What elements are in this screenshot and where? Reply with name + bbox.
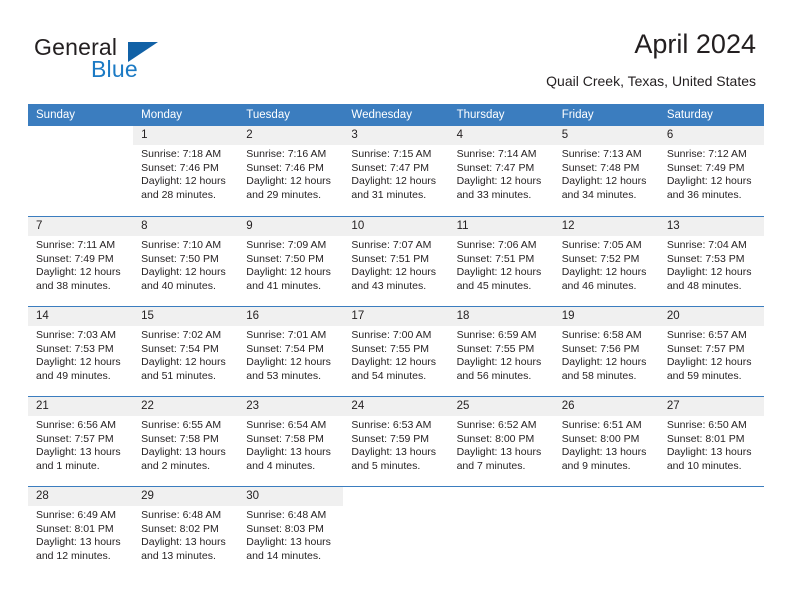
day-number: 11: [449, 217, 554, 236]
calendar-body: 1Sunrise: 7:18 AMSunset: 7:46 PMDaylight…: [28, 126, 764, 576]
day-number: 18: [449, 307, 554, 326]
sunset-time: Sunset: 7:54 PM: [246, 343, 339, 357]
daylight-duration-line2: and 36 minutes.: [667, 189, 760, 203]
calendar-day-cell[interactable]: 23Sunrise: 6:54 AMSunset: 7:58 PMDayligh…: [238, 396, 343, 486]
daylight-duration-line2: and 7 minutes.: [457, 460, 550, 474]
day-sun-info: Sunrise: 7:14 AMSunset: 7:47 PMDaylight:…: [449, 145, 554, 202]
calendar-empty-cell: [28, 126, 133, 216]
day-sun-info: Sunrise: 7:02 AMSunset: 7:54 PMDaylight:…: [133, 326, 238, 383]
weekday-header-wednesday: Wednesday: [343, 104, 448, 126]
daylight-duration-line2: and 31 minutes.: [351, 189, 444, 203]
daylight-duration-line1: Daylight: 13 hours: [141, 446, 234, 460]
day-number: 3: [343, 126, 448, 145]
day-number: 16: [238, 307, 343, 326]
calendar-day-cell[interactable]: 25Sunrise: 6:52 AMSunset: 8:00 PMDayligh…: [449, 396, 554, 486]
sunrise-time: Sunrise: 7:05 AM: [562, 239, 655, 253]
calendar-day-cell[interactable]: 20Sunrise: 6:57 AMSunset: 7:57 PMDayligh…: [659, 306, 764, 396]
day-number: [343, 487, 448, 506]
daylight-duration-line2: and 51 minutes.: [141, 370, 234, 384]
sunrise-time: Sunrise: 7:04 AM: [667, 239, 760, 253]
general-blue-logo[interactable]: General Blue: [34, 34, 214, 90]
day-number: 30: [238, 487, 343, 506]
sunset-time: Sunset: 7:46 PM: [141, 162, 234, 176]
day-sun-info: Sunrise: 7:09 AMSunset: 7:50 PMDaylight:…: [238, 236, 343, 293]
weekday-header-sunday: Sunday: [28, 104, 133, 126]
daylight-duration-line2: and 14 minutes.: [246, 550, 339, 564]
calendar-week-row: 1Sunrise: 7:18 AMSunset: 7:46 PMDaylight…: [28, 126, 764, 216]
calendar-day-cell[interactable]: 11Sunrise: 7:06 AMSunset: 7:51 PMDayligh…: [449, 216, 554, 306]
day-number: 25: [449, 397, 554, 416]
day-sun-info: Sunrise: 7:00 AMSunset: 7:55 PMDaylight:…: [343, 326, 448, 383]
sunrise-time: Sunrise: 7:18 AM: [141, 148, 234, 162]
day-number: 10: [343, 217, 448, 236]
daylight-duration-line2: and 38 minutes.: [36, 280, 129, 294]
day-sun-info: Sunrise: 7:11 AMSunset: 7:49 PMDaylight:…: [28, 236, 133, 293]
sunrise-time: Sunrise: 6:51 AM: [562, 419, 655, 433]
calendar-day-cell[interactable]: 16Sunrise: 7:01 AMSunset: 7:54 PMDayligh…: [238, 306, 343, 396]
calendar-empty-cell: [449, 486, 554, 576]
daylight-duration-line2: and 59 minutes.: [667, 370, 760, 384]
daylight-duration-line2: and 46 minutes.: [562, 280, 655, 294]
sunset-time: Sunset: 7:55 PM: [351, 343, 444, 357]
calendar-day-cell[interactable]: 6Sunrise: 7:12 AMSunset: 7:49 PMDaylight…: [659, 126, 764, 216]
title-block: April 2024 Quail Creek, Texas, United St…: [546, 28, 756, 90]
sunrise-time: Sunrise: 6:49 AM: [36, 509, 129, 523]
sunrise-time: Sunrise: 6:52 AM: [457, 419, 550, 433]
sunrise-time: Sunrise: 7:14 AM: [457, 148, 550, 162]
sunrise-time: Sunrise: 6:55 AM: [141, 419, 234, 433]
calendar-empty-cell: [554, 486, 659, 576]
sunset-time: Sunset: 8:00 PM: [457, 433, 550, 447]
sunset-time: Sunset: 7:54 PM: [141, 343, 234, 357]
sunrise-time: Sunrise: 6:59 AM: [457, 329, 550, 343]
day-sun-info: Sunrise: 6:56 AMSunset: 7:57 PMDaylight:…: [28, 416, 133, 473]
sunset-time: Sunset: 7:51 PM: [351, 253, 444, 267]
day-number: 13: [659, 217, 764, 236]
daylight-duration-line1: Daylight: 12 hours: [562, 266, 655, 280]
calendar-day-cell[interactable]: 4Sunrise: 7:14 AMSunset: 7:47 PMDaylight…: [449, 126, 554, 216]
day-number: 6: [659, 126, 764, 145]
calendar-day-cell[interactable]: 15Sunrise: 7:02 AMSunset: 7:54 PMDayligh…: [133, 306, 238, 396]
daylight-duration-line2: and 45 minutes.: [457, 280, 550, 294]
day-number: 23: [238, 397, 343, 416]
weekday-header-saturday: Saturday: [659, 104, 764, 126]
calendar-day-cell[interactable]: 12Sunrise: 7:05 AMSunset: 7:52 PMDayligh…: [554, 216, 659, 306]
day-number: 21: [28, 397, 133, 416]
daylight-duration-line1: Daylight: 12 hours: [667, 356, 760, 370]
sunrise-time: Sunrise: 6:50 AM: [667, 419, 760, 433]
sunset-time: Sunset: 7:48 PM: [562, 162, 655, 176]
page-subtitle: Quail Creek, Texas, United States: [546, 72, 756, 90]
day-number: [449, 487, 554, 506]
sunset-time: Sunset: 8:03 PM: [246, 523, 339, 537]
calendar-day-cell[interactable]: 18Sunrise: 6:59 AMSunset: 7:55 PMDayligh…: [449, 306, 554, 396]
sunrise-time: Sunrise: 7:02 AM: [141, 329, 234, 343]
sunset-time: Sunset: 7:50 PM: [246, 253, 339, 267]
day-sun-info: Sunrise: 7:03 AMSunset: 7:53 PMDaylight:…: [28, 326, 133, 383]
sunrise-time: Sunrise: 7:00 AM: [351, 329, 444, 343]
sunset-time: Sunset: 8:02 PM: [141, 523, 234, 537]
daylight-duration-line1: Daylight: 12 hours: [562, 175, 655, 189]
calendar-day-cell[interactable]: 2Sunrise: 7:16 AMSunset: 7:46 PMDaylight…: [238, 126, 343, 216]
day-number: 28: [28, 487, 133, 506]
sunrise-time: Sunrise: 6:58 AM: [562, 329, 655, 343]
day-number: 26: [554, 397, 659, 416]
sunrise-time: Sunrise: 7:01 AM: [246, 329, 339, 343]
calendar-day-cell[interactable]: 17Sunrise: 7:00 AMSunset: 7:55 PMDayligh…: [343, 306, 448, 396]
sunset-time: Sunset: 7:53 PM: [36, 343, 129, 357]
daylight-duration-line1: Daylight: 13 hours: [457, 446, 550, 460]
day-number: 29: [133, 487, 238, 506]
daylight-duration-line2: and 41 minutes.: [246, 280, 339, 294]
daylight-duration-line1: Daylight: 12 hours: [667, 175, 760, 189]
sunset-time: Sunset: 7:55 PM: [457, 343, 550, 357]
daylight-duration-line2: and 43 minutes.: [351, 280, 444, 294]
calendar-day-cell[interactable]: 26Sunrise: 6:51 AMSunset: 8:00 PMDayligh…: [554, 396, 659, 486]
calendar-day-cell[interactable]: 1Sunrise: 7:18 AMSunset: 7:46 PMDaylight…: [133, 126, 238, 216]
calendar-empty-cell: [659, 486, 764, 576]
daylight-duration-line1: Daylight: 12 hours: [246, 356, 339, 370]
calendar-day-cell[interactable]: 14Sunrise: 7:03 AMSunset: 7:53 PMDayligh…: [28, 306, 133, 396]
sunrise-time: Sunrise: 7:13 AM: [562, 148, 655, 162]
calendar-week-row: 28Sunrise: 6:49 AMSunset: 8:01 PMDayligh…: [28, 486, 764, 576]
daylight-duration-line2: and 12 minutes.: [36, 550, 129, 564]
sunset-time: Sunset: 8:01 PM: [667, 433, 760, 447]
calendar-day-cell[interactable]: 29Sunrise: 6:48 AMSunset: 8:02 PMDayligh…: [133, 486, 238, 576]
daylight-duration-line2: and 29 minutes.: [246, 189, 339, 203]
daylight-duration-line1: Daylight: 13 hours: [246, 446, 339, 460]
calendar-day-cell[interactable]: 28Sunrise: 6:49 AMSunset: 8:01 PMDayligh…: [28, 486, 133, 576]
daylight-duration-line1: Daylight: 13 hours: [351, 446, 444, 460]
day-sun-info: Sunrise: 7:10 AMSunset: 7:50 PMDaylight:…: [133, 236, 238, 293]
day-number: [554, 487, 659, 506]
day-sun-info: Sunrise: 7:07 AMSunset: 7:51 PMDaylight:…: [343, 236, 448, 293]
day-sun-info: Sunrise: 6:48 AMSunset: 8:03 PMDaylight:…: [238, 506, 343, 563]
sunset-time: Sunset: 7:49 PM: [36, 253, 129, 267]
daylight-duration-line1: Daylight: 13 hours: [667, 446, 760, 460]
sunrise-time: Sunrise: 6:53 AM: [351, 419, 444, 433]
day-sun-info: Sunrise: 7:15 AMSunset: 7:47 PMDaylight:…: [343, 145, 448, 202]
day-sun-info: Sunrise: 6:53 AMSunset: 7:59 PMDaylight:…: [343, 416, 448, 473]
sunrise-time: Sunrise: 7:09 AM: [246, 239, 339, 253]
sunset-time: Sunset: 7:58 PM: [141, 433, 234, 447]
daylight-duration-line2: and 4 minutes.: [246, 460, 339, 474]
daylight-duration-line1: Daylight: 12 hours: [246, 175, 339, 189]
day-number: 20: [659, 307, 764, 326]
daylight-duration-line1: Daylight: 13 hours: [141, 536, 234, 550]
daylight-duration-line2: and 40 minutes.: [141, 280, 234, 294]
day-sun-info: Sunrise: 7:05 AMSunset: 7:52 PMDaylight:…: [554, 236, 659, 293]
daylight-duration-line2: and 5 minutes.: [351, 460, 444, 474]
sunrise-time: Sunrise: 7:03 AM: [36, 329, 129, 343]
page-title: April 2024: [546, 28, 756, 60]
daylight-duration-line2: and 48 minutes.: [667, 280, 760, 294]
daylight-duration-line1: Daylight: 12 hours: [562, 356, 655, 370]
day-number: 19: [554, 307, 659, 326]
calendar-day-cell[interactable]: 30Sunrise: 6:48 AMSunset: 8:03 PMDayligh…: [238, 486, 343, 576]
sunset-time: Sunset: 7:51 PM: [457, 253, 550, 267]
calendar-day-cell[interactable]: 10Sunrise: 7:07 AMSunset: 7:51 PMDayligh…: [343, 216, 448, 306]
daylight-duration-line1: Daylight: 12 hours: [457, 266, 550, 280]
sunrise-time: Sunrise: 7:06 AM: [457, 239, 550, 253]
daylight-duration-line2: and 53 minutes.: [246, 370, 339, 384]
calendar-day-cell[interactable]: 22Sunrise: 6:55 AMSunset: 7:58 PMDayligh…: [133, 396, 238, 486]
sunset-time: Sunset: 7:47 PM: [351, 162, 444, 176]
daylight-duration-line1: Daylight: 13 hours: [562, 446, 655, 460]
day-number: 12: [554, 217, 659, 236]
day-number: 17: [343, 307, 448, 326]
day-number: [28, 126, 133, 145]
sunrise-time: Sunrise: 6:48 AM: [246, 509, 339, 523]
daylight-duration-line1: Daylight: 12 hours: [351, 175, 444, 189]
daylight-duration-line1: Daylight: 12 hours: [351, 356, 444, 370]
day-sun-info: Sunrise: 6:50 AMSunset: 8:01 PMDaylight:…: [659, 416, 764, 473]
sunset-time: Sunset: 7:52 PM: [562, 253, 655, 267]
day-sun-info: Sunrise: 6:52 AMSunset: 8:00 PMDaylight:…: [449, 416, 554, 473]
calendar-day-cell[interactable]: 3Sunrise: 7:15 AMSunset: 7:47 PMDaylight…: [343, 126, 448, 216]
sunrise-time: Sunrise: 7:15 AM: [351, 148, 444, 162]
daylight-duration-line2: and 49 minutes.: [36, 370, 129, 384]
sunrise-time: Sunrise: 6:56 AM: [36, 419, 129, 433]
page-header: General Blue April 2024 Quail Creek, Tex…: [0, 0, 792, 100]
weekday-header-thursday: Thursday: [449, 104, 554, 126]
daylight-duration-line1: Daylight: 12 hours: [667, 266, 760, 280]
day-number: 24: [343, 397, 448, 416]
daylight-duration-line2: and 13 minutes.: [141, 550, 234, 564]
calendar-day-cell[interactable]: 5Sunrise: 7:13 AMSunset: 7:48 PMDaylight…: [554, 126, 659, 216]
calendar-empty-cell: [343, 486, 448, 576]
calendar-table: Sunday Monday Tuesday Wednesday Thursday…: [28, 104, 764, 576]
day-sun-info: Sunrise: 7:18 AMSunset: 7:46 PMDaylight:…: [133, 145, 238, 202]
calendar-day-cell[interactable]: 24Sunrise: 6:53 AMSunset: 7:59 PMDayligh…: [343, 396, 448, 486]
daylight-duration-line2: and 1 minute.: [36, 460, 129, 474]
day-sun-info: Sunrise: 7:13 AMSunset: 7:48 PMDaylight:…: [554, 145, 659, 202]
weekday-header-tuesday: Tuesday: [238, 104, 343, 126]
daylight-duration-line2: and 2 minutes.: [141, 460, 234, 474]
daylight-duration-line1: Daylight: 12 hours: [246, 266, 339, 280]
weekday-header-monday: Monday: [133, 104, 238, 126]
day-number: 22: [133, 397, 238, 416]
calendar-page: General Blue April 2024 Quail Creek, Tex…: [0, 0, 792, 612]
day-number: 1: [133, 126, 238, 145]
daylight-duration-line2: and 58 minutes.: [562, 370, 655, 384]
sunset-time: Sunset: 7:56 PM: [562, 343, 655, 357]
day-sun-info: Sunrise: 6:49 AMSunset: 8:01 PMDaylight:…: [28, 506, 133, 563]
daylight-duration-line1: Daylight: 12 hours: [141, 356, 234, 370]
sunset-time: Sunset: 7:57 PM: [667, 343, 760, 357]
calendar-week-row: 14Sunrise: 7:03 AMSunset: 7:53 PMDayligh…: [28, 306, 764, 396]
sunrise-time: Sunrise: 6:54 AM: [246, 419, 339, 433]
day-sun-info: Sunrise: 6:55 AMSunset: 7:58 PMDaylight:…: [133, 416, 238, 473]
daylight-duration-line2: and 33 minutes.: [457, 189, 550, 203]
weekday-header-friday: Friday: [554, 104, 659, 126]
day-sun-info: Sunrise: 6:59 AMSunset: 7:55 PMDaylight:…: [449, 326, 554, 383]
daylight-duration-line1: Daylight: 13 hours: [36, 446, 129, 460]
daylight-duration-line1: Daylight: 12 hours: [141, 175, 234, 189]
sunrise-time: Sunrise: 6:48 AM: [141, 509, 234, 523]
day-sun-info: Sunrise: 6:51 AMSunset: 8:00 PMDaylight:…: [554, 416, 659, 473]
day-sun-info: Sunrise: 6:57 AMSunset: 7:57 PMDaylight:…: [659, 326, 764, 383]
daylight-duration-line1: Daylight: 13 hours: [36, 536, 129, 550]
day-sun-info: Sunrise: 7:04 AMSunset: 7:53 PMDaylight:…: [659, 236, 764, 293]
calendar-day-cell[interactable]: 27Sunrise: 6:50 AMSunset: 8:01 PMDayligh…: [659, 396, 764, 486]
day-sun-info: Sunrise: 6:48 AMSunset: 8:02 PMDaylight:…: [133, 506, 238, 563]
calendar-day-cell[interactable]: 21Sunrise: 6:56 AMSunset: 7:57 PMDayligh…: [28, 396, 133, 486]
sunset-time: Sunset: 8:00 PM: [562, 433, 655, 447]
daylight-duration-line2: and 54 minutes.: [351, 370, 444, 384]
calendar-week-row: 21Sunrise: 6:56 AMSunset: 7:57 PMDayligh…: [28, 396, 764, 486]
daylight-duration-line1: Daylight: 12 hours: [36, 266, 129, 280]
daylight-duration-line2: and 28 minutes.: [141, 189, 234, 203]
daylight-duration-line1: Daylight: 12 hours: [457, 175, 550, 189]
calendar-week-row: 7Sunrise: 7:11 AMSunset: 7:49 PMDaylight…: [28, 216, 764, 306]
day-number: 5: [554, 126, 659, 145]
calendar-day-cell[interactable]: 13Sunrise: 7:04 AMSunset: 7:53 PMDayligh…: [659, 216, 764, 306]
day-sun-info: Sunrise: 7:12 AMSunset: 7:49 PMDaylight:…: [659, 145, 764, 202]
day-number: 14: [28, 307, 133, 326]
day-number: 27: [659, 397, 764, 416]
sunrise-time: Sunrise: 6:57 AM: [667, 329, 760, 343]
sunset-time: Sunset: 8:01 PM: [36, 523, 129, 537]
calendar-header-row: Sunday Monday Tuesday Wednesday Thursday…: [28, 104, 764, 126]
sunrise-time: Sunrise: 7:16 AM: [246, 148, 339, 162]
day-number: [659, 487, 764, 506]
sunset-time: Sunset: 7:58 PM: [246, 433, 339, 447]
sunset-time: Sunset: 7:57 PM: [36, 433, 129, 447]
daylight-duration-line2: and 10 minutes.: [667, 460, 760, 474]
day-number: 15: [133, 307, 238, 326]
day-sun-info: Sunrise: 7:06 AMSunset: 7:51 PMDaylight:…: [449, 236, 554, 293]
sunrise-time: Sunrise: 7:11 AM: [36, 239, 129, 253]
day-number: 9: [238, 217, 343, 236]
daylight-duration-line2: and 34 minutes.: [562, 189, 655, 203]
sunrise-time: Sunrise: 7:10 AM: [141, 239, 234, 253]
daylight-duration-line1: Daylight: 12 hours: [457, 356, 550, 370]
brand-name-blue: Blue: [91, 56, 138, 83]
daylight-duration-line1: Daylight: 13 hours: [246, 536, 339, 550]
day-number: 2: [238, 126, 343, 145]
calendar-day-cell[interactable]: 8Sunrise: 7:10 AMSunset: 7:50 PMDaylight…: [133, 216, 238, 306]
sunrise-time: Sunrise: 7:07 AM: [351, 239, 444, 253]
day-sun-info: Sunrise: 6:54 AMSunset: 7:58 PMDaylight:…: [238, 416, 343, 473]
daylight-duration-line1: Daylight: 12 hours: [351, 266, 444, 280]
day-number: 7: [28, 217, 133, 236]
calendar-day-cell[interactable]: 9Sunrise: 7:09 AMSunset: 7:50 PMDaylight…: [238, 216, 343, 306]
sunrise-time: Sunrise: 7:12 AM: [667, 148, 760, 162]
day-sun-info: Sunrise: 7:01 AMSunset: 7:54 PMDaylight:…: [238, 326, 343, 383]
sunset-time: Sunset: 7:50 PM: [141, 253, 234, 267]
daylight-duration-line1: Daylight: 12 hours: [36, 356, 129, 370]
daylight-duration-line2: and 9 minutes.: [562, 460, 655, 474]
day-number: 8: [133, 217, 238, 236]
sunset-time: Sunset: 7:59 PM: [351, 433, 444, 447]
sunset-time: Sunset: 7:49 PM: [667, 162, 760, 176]
day-number: 4: [449, 126, 554, 145]
day-sun-info: Sunrise: 7:16 AMSunset: 7:46 PMDaylight:…: [238, 145, 343, 202]
calendar-day-cell[interactable]: 19Sunrise: 6:58 AMSunset: 7:56 PMDayligh…: [554, 306, 659, 396]
calendar-day-cell[interactable]: 7Sunrise: 7:11 AMSunset: 7:49 PMDaylight…: [28, 216, 133, 306]
sunset-time: Sunset: 7:47 PM: [457, 162, 550, 176]
daylight-duration-line2: and 56 minutes.: [457, 370, 550, 384]
day-sun-info: Sunrise: 6:58 AMSunset: 7:56 PMDaylight:…: [554, 326, 659, 383]
sunset-time: Sunset: 7:46 PM: [246, 162, 339, 176]
sunset-time: Sunset: 7:53 PM: [667, 253, 760, 267]
daylight-duration-line1: Daylight: 12 hours: [141, 266, 234, 280]
